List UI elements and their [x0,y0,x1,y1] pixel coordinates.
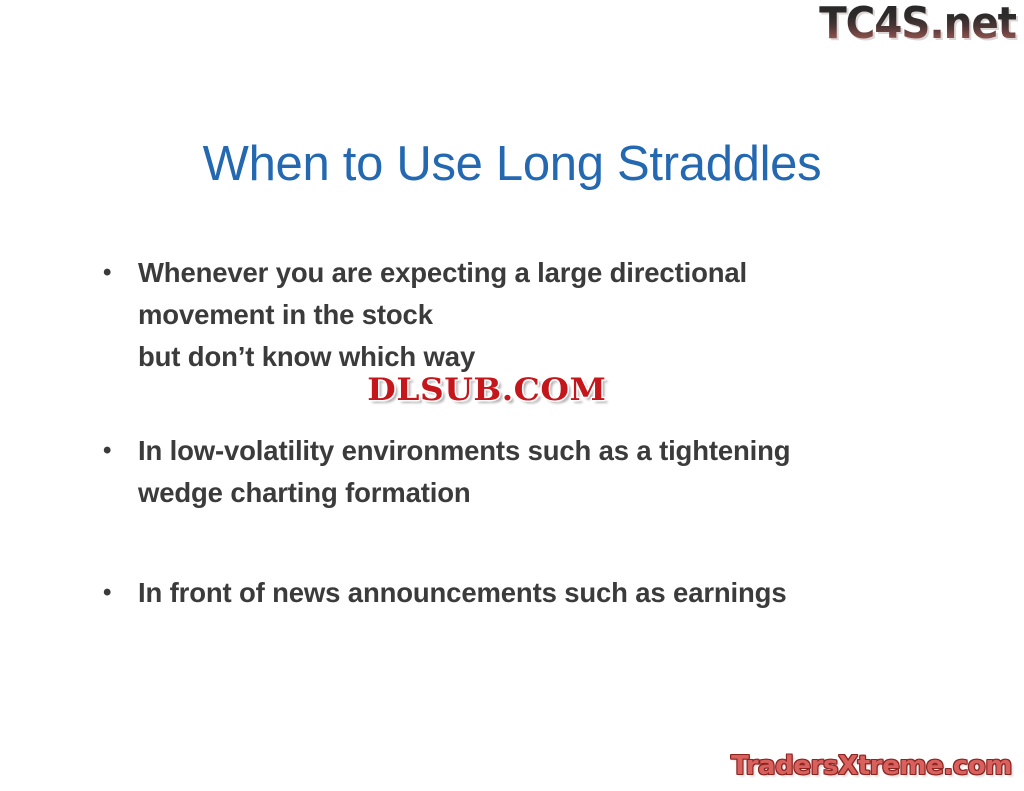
bullet-text-3: In front of news announcements such as e… [138,572,928,614]
bullet-text-2: In low-volatility environments such as a… [138,430,928,514]
bullet-marker-icon: • [98,572,138,613]
presentation-slide: TC4S.net TC4S.net When to Use Long Strad… [0,0,1024,791]
list-item: • Whenever you are expecting a large dir… [98,252,928,378]
bullet-list: • Whenever you are expecting a large dir… [98,252,928,614]
bullet-marker-icon: • [98,252,138,293]
slide-title: When to Use Long Straddles [0,137,1024,192]
tradersxtreme-com-logo: TradersXtreme.com [731,753,1012,779]
bullet-text-1: Whenever you are expecting a large direc… [138,252,928,378]
bullet-marker-icon: • [98,430,138,471]
list-item: • In low-volatility environments such as… [98,430,928,514]
tc4s-net-logo: TC4S.net [819,2,1016,46]
dlsub-com-watermark: DLSUB.COM [362,372,612,409]
list-item: • In front of news announcements such as… [98,572,928,614]
